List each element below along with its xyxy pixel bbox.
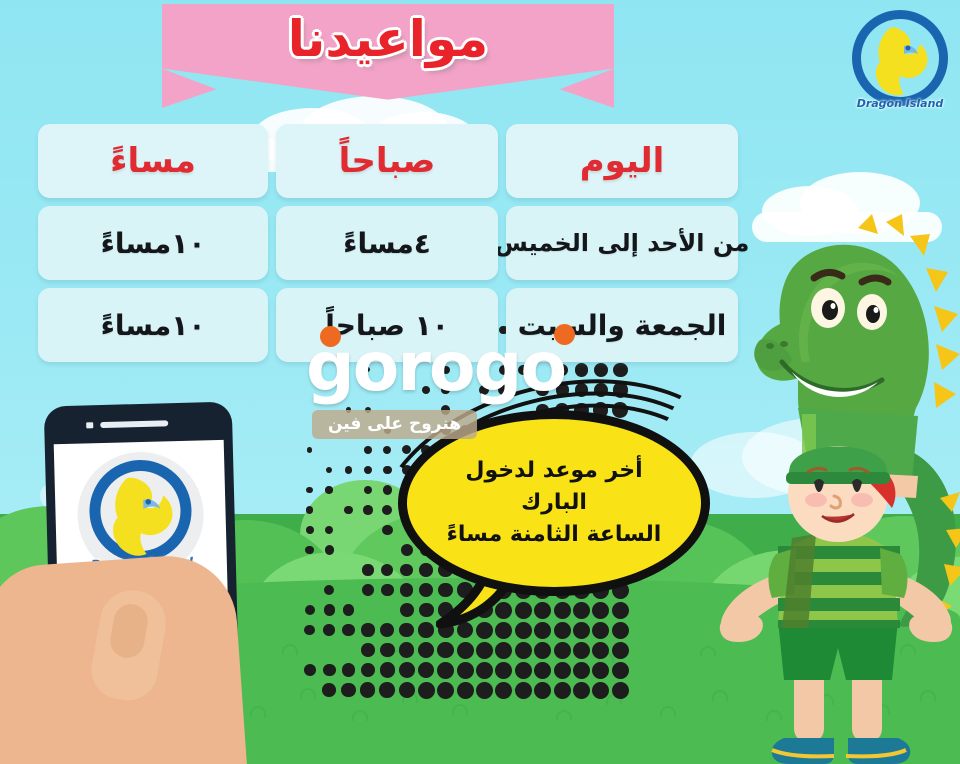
earpiece-speaker — [100, 420, 168, 428]
front-camera-icon — [86, 422, 93, 428]
header-morning-label: صباحاً — [339, 141, 436, 181]
header-cell-evening: مساءً — [38, 124, 268, 198]
grass-tuft-icon — [508, 688, 524, 699]
grass-tuft-icon — [402, 692, 418, 703]
cell-evening: ١٠مساءً — [38, 288, 268, 362]
cell-morning: ٤مساءً — [276, 206, 498, 280]
banner-ribbon: مواعيدنا — [162, 4, 614, 108]
table-header-row: اليوم صباحاً مساءً — [38, 124, 738, 198]
grass-tuft-icon — [452, 704, 468, 715]
cell-day: من الأحد إلى الخميس — [506, 206, 738, 280]
grass-tuft-icon — [492, 644, 508, 655]
grass-tuft-icon — [388, 650, 404, 661]
notice-text: أخر موعد لدخول البارك الساعة الثامنة مسا… — [407, 455, 701, 551]
cell-morning: ١٠ صباحاً — [276, 288, 498, 362]
grass-tuft-icon — [660, 706, 676, 717]
notice-line-1: أخر موعد لدخول البارك — [429, 455, 679, 519]
poster-root: مواعيدنا Dragon Island اليوم صباحاً مساء… — [0, 0, 960, 764]
dragon-head-icon — [846, 4, 954, 112]
row-morning-value: ١٠ صباحاً — [325, 309, 449, 342]
cell-evening: ١٠مساءً — [38, 206, 268, 280]
grass-tuft-icon — [300, 688, 316, 699]
row-morning-value: ٤مساءً — [343, 227, 431, 260]
grass-tuft-icon — [556, 710, 572, 721]
grass-tuft-icon — [352, 710, 368, 721]
brand-name: Dragon Island — [846, 97, 954, 110]
brand-logo: Dragon Island — [846, 4, 954, 112]
speech-bubble: أخر موعد لدخول البارك الساعة الثامنة مسا… — [398, 410, 710, 596]
header-cell-morning: صباحاً — [276, 124, 498, 198]
grass-tuft-icon — [700, 646, 716, 657]
grass-tuft-icon — [606, 694, 622, 705]
grass-tuft-icon — [598, 652, 614, 663]
boy-character-illustration — [716, 442, 960, 764]
header-evening-label: مساءً — [110, 141, 196, 181]
row-evening-value: ١٠مساءً — [101, 309, 206, 342]
page-title: مواعيدنا — [162, 10, 614, 68]
grass-tuft-icon — [282, 644, 298, 655]
table-row: الجمعة والسبت ١٠ صباحاً ١٠مساءً — [38, 288, 738, 362]
notice-line-2: الساعة الثامنة مساءً — [429, 519, 679, 551]
table-row: من الأحد إلى الخميس ٤مساءً ١٠مساءً — [38, 206, 738, 280]
header-cell-day: اليوم — [506, 124, 738, 198]
row-evening-value: ١٠مساءً — [101, 227, 206, 260]
header-day-label: اليوم — [580, 141, 665, 181]
row-day-value: الجمعة والسبت — [518, 309, 727, 342]
cell-day: الجمعة والسبت — [506, 288, 738, 362]
row-day-value: من الأحد إلى الخميس — [495, 229, 750, 257]
grass-tuft-icon — [250, 706, 266, 717]
schedule-table: اليوم صباحاً مساءً من الأحد إلى الخميس ٤… — [38, 124, 738, 370]
